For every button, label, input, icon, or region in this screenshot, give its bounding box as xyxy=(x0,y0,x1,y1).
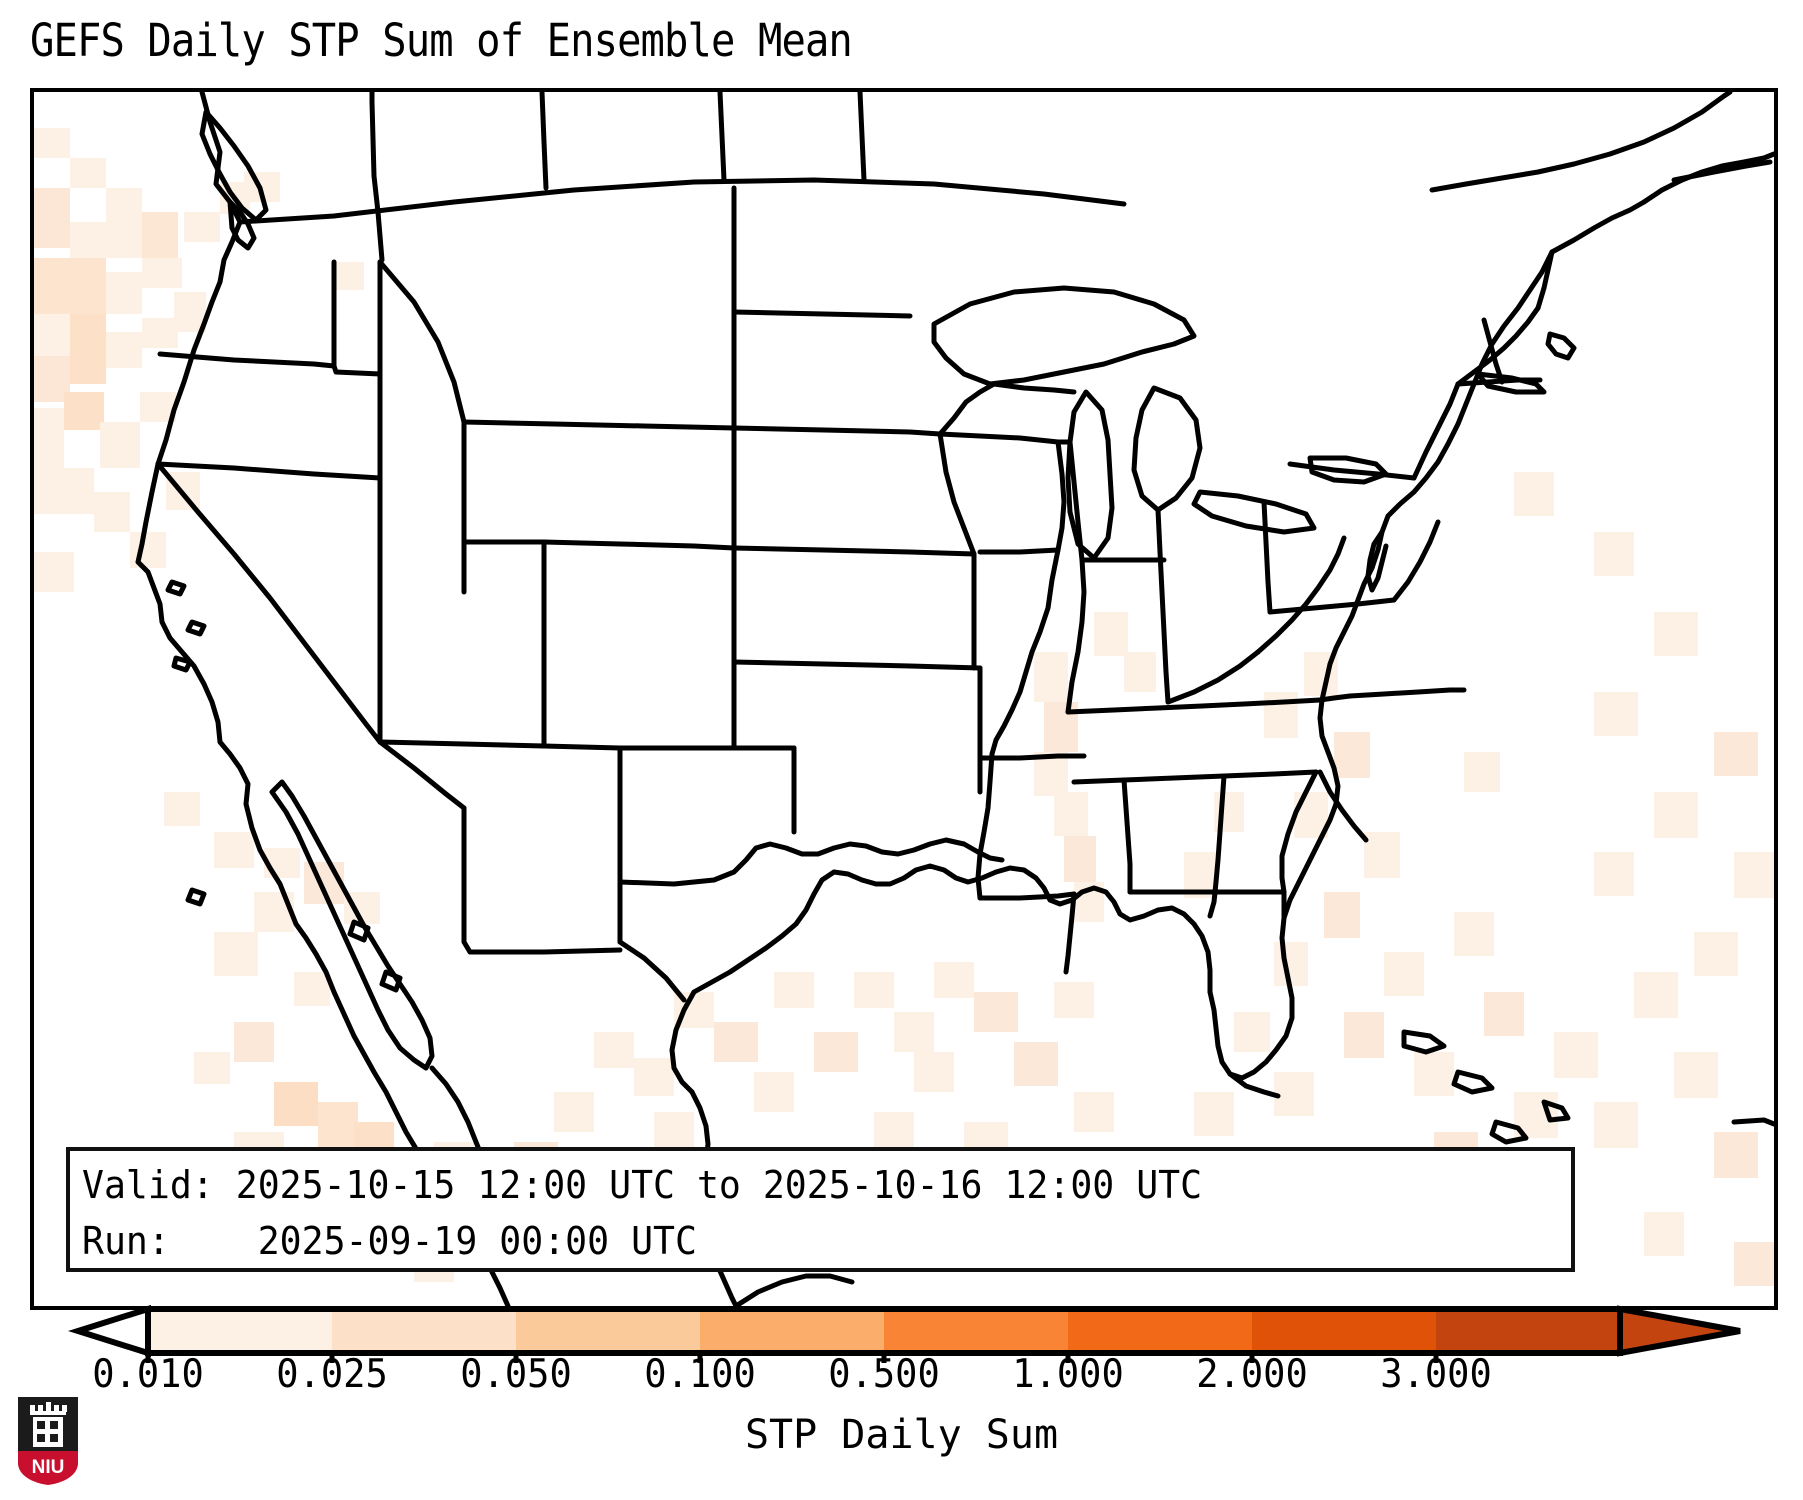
bahamas-island-a xyxy=(1404,1032,1444,1052)
state-border-mn-wi xyxy=(940,384,994,434)
ab-sk-border xyxy=(372,92,382,260)
cbar-tick-5: 1.000 xyxy=(1012,1352,1124,1397)
state-border-ok-tx-panhandle xyxy=(734,662,794,748)
stp-shading-layer xyxy=(34,128,1774,1286)
hispaniola-west xyxy=(1734,1120,1774,1124)
channel-island-b xyxy=(188,622,204,634)
state-border-mt-wy xyxy=(464,422,734,428)
us-canada-border xyxy=(240,180,1124,222)
mb-on-border xyxy=(720,92,724,180)
map-panel xyxy=(30,88,1778,1310)
page-title: GEFS Daily STP Sum of Ensemble Mean xyxy=(30,14,852,67)
state-border-ms-al xyxy=(1124,780,1130,892)
baja-island-b xyxy=(382,972,400,990)
state-border-nm-mex xyxy=(470,950,620,952)
state-border-wi-mi-up xyxy=(994,384,1074,392)
baja-island-c xyxy=(188,890,204,904)
valid-line: Valid: 2025-10-15 12:00 UTC to 2025-10-1… xyxy=(82,1157,1500,1213)
niu-logo-text: NIU xyxy=(32,1457,65,1478)
state-border-mt-id xyxy=(380,262,464,422)
state-border-wa-or xyxy=(160,354,380,374)
state-border-tn-ms-al-ga xyxy=(1074,772,1316,782)
cbar-tick-2: 0.050 xyxy=(460,1352,572,1397)
state-border-nd-sd xyxy=(734,312,910,316)
cbar-tick-4: 0.500 xyxy=(828,1352,940,1397)
state-border-wi-il xyxy=(1020,438,1070,442)
canada-maritime xyxy=(1644,154,1774,202)
state-border-pa-md xyxy=(1270,600,1394,612)
state-border-me-nh xyxy=(1538,252,1552,308)
baja-island-a xyxy=(350,922,368,940)
cbar-tick-7: 3.000 xyxy=(1380,1352,1492,1397)
state-border-az-nm xyxy=(464,808,470,952)
state-border-ky-wv-oh xyxy=(1168,652,1258,702)
state-border-nv-az xyxy=(380,742,464,808)
lake-huron xyxy=(1134,388,1200,510)
colorbar-over-arrow xyxy=(1620,1309,1740,1353)
state-border-la-ms xyxy=(1066,894,1074,972)
state-border-ut-az xyxy=(380,742,620,748)
cbar-tick-6: 2.000 xyxy=(1196,1352,1308,1397)
state-border-mn-ia xyxy=(940,434,1020,438)
colorbar-bands xyxy=(148,1309,1620,1353)
state-border-pa-oh xyxy=(1264,502,1270,612)
state-border-in-oh xyxy=(1158,510,1168,702)
niu-logo: NIU xyxy=(16,1395,80,1487)
state-border-mo-ar xyxy=(980,756,1084,758)
valid-run-info-box: Valid: 2025-10-15 12:00 UTC to 2025-10-1… xyxy=(66,1147,1575,1272)
state-border-pa-ny xyxy=(1290,464,1414,478)
colorbar-under-arrow xyxy=(78,1309,148,1353)
lake-superior xyxy=(934,288,1194,384)
state-border-nj-de xyxy=(1394,522,1438,600)
state-border-ks-ok xyxy=(734,662,980,668)
cbar-tick-0: 0.010 xyxy=(92,1352,204,1397)
channel-island-c xyxy=(174,658,190,670)
chesapeake-bay xyxy=(1368,532,1386,590)
colorbar-tick-labels: 0.010 0.025 0.050 0.100 0.500 1.000 2.00… xyxy=(0,1352,1803,1408)
state-border-wy-co xyxy=(544,542,734,548)
state-border-ia-il xyxy=(1058,442,1064,550)
sk-mb-border xyxy=(542,92,546,188)
colorbar-axis-label: STP Daily Sum xyxy=(0,1412,1803,1458)
state-border-ia-mo xyxy=(980,550,1058,552)
state-border-tx-ok xyxy=(620,840,1002,884)
cbar-tick-3: 0.100 xyxy=(644,1352,756,1397)
run-line: Run: 2025-09-19 00:00 UTC xyxy=(82,1213,1500,1269)
map-canvas xyxy=(34,92,1774,1306)
state-border-ne-ks xyxy=(734,548,974,554)
cape-cod xyxy=(1548,334,1574,358)
florida-keys xyxy=(1230,1074,1278,1096)
state-border-ca-nv xyxy=(158,464,380,742)
yucatan-coast xyxy=(736,1276,852,1306)
on-qc-border xyxy=(860,92,864,180)
cbar-tick-1: 0.025 xyxy=(276,1352,388,1397)
state-border-sd-ne xyxy=(734,428,940,434)
channel-island-a xyxy=(168,582,184,594)
bahamas-island-b xyxy=(1454,1072,1492,1092)
state-border-ar-la xyxy=(980,894,1074,898)
state-border-va-nc xyxy=(1350,690,1464,696)
state-border-ne-ia xyxy=(940,434,974,554)
maine-coast xyxy=(1552,202,1644,252)
state-border-tx-mex-rio xyxy=(620,942,684,1000)
lake-erie xyxy=(1194,492,1314,532)
